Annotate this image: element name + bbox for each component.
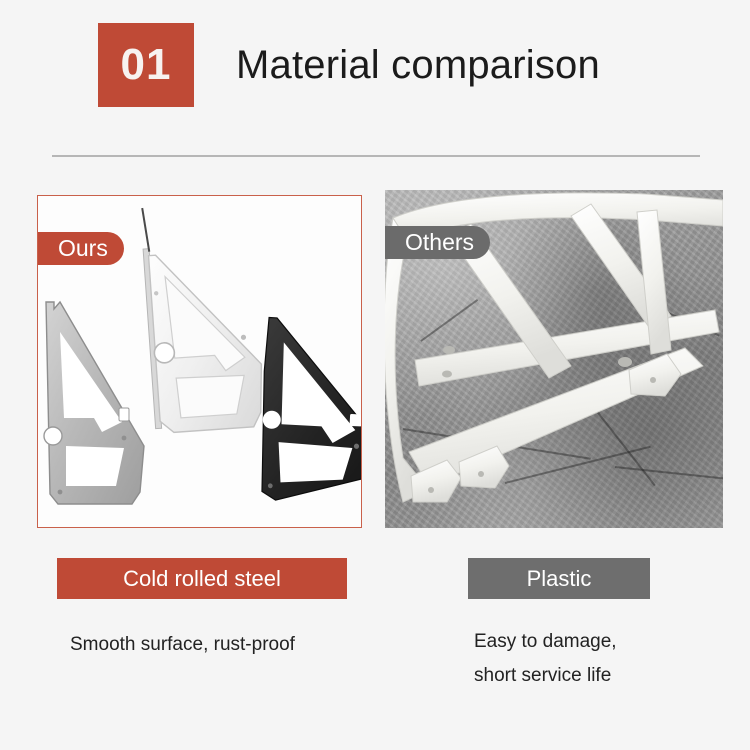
others-caption-bar: Plastic: [468, 558, 650, 599]
others-photo-panel: Others: [385, 190, 723, 528]
ours-badge: Ours: [38, 232, 124, 265]
comparison-section: Ours: [0, 0, 750, 750]
bracket-plate-black: [245, 313, 362, 519]
others-description: Easy to damage, short service life: [474, 625, 617, 693]
others-badge: Others: [385, 226, 490, 259]
others-description-line-2: short service life: [474, 659, 617, 693]
ours-description: Smooth surface, rust-proof: [70, 628, 295, 662]
ours-caption-bar: Cold rolled steel: [57, 558, 347, 599]
others-description-line-1: Easy to damage,: [474, 625, 617, 659]
ours-description-line-1: Smooth surface, rust-proof: [70, 628, 295, 662]
bracket-plate-gray: [37, 296, 152, 511]
ours-photo-panel: Ours: [37, 195, 362, 528]
